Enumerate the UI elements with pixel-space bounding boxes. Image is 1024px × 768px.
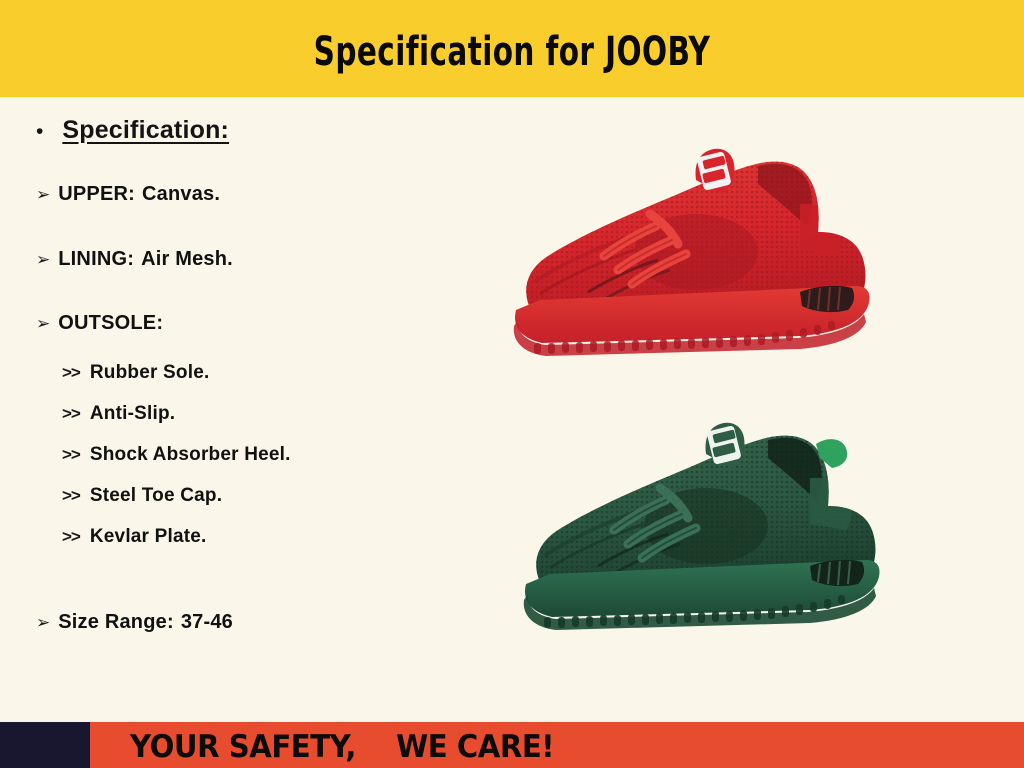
- outsole-item: >> Shock Absorber Heel.: [62, 444, 291, 466]
- outsole-item: >> Steel Toe Cap.: [62, 485, 222, 507]
- shock-absorber-insert: [810, 560, 864, 586]
- spec-row-upper: ➢ UPPER: Canvas.: [36, 183, 220, 206]
- shock-absorber-insert: [800, 286, 854, 312]
- spec-label-lining: LINING:: [58, 248, 134, 271]
- specification-heading-label: Specification:: [62, 116, 229, 145]
- footer-slogan-part1: YOUR SAFETY,: [130, 729, 356, 765]
- arrow-bullet-icon: ➢: [36, 251, 50, 268]
- specification-heading: • Specification:: [36, 116, 229, 145]
- outsole-item-label: Steel Toe Cap.: [90, 485, 222, 507]
- spec-label-outsole: OUTSOLE:: [58, 312, 163, 335]
- footer-slogan-part2: WE CARE!: [396, 729, 554, 765]
- double-chevron-icon: >>: [62, 445, 80, 465]
- footer-slogan: YOUR SAFETY, WE CARE!: [130, 729, 554, 765]
- outsole-item-label: Rubber Sole.: [90, 362, 210, 384]
- spec-value-upper: Canvas.: [142, 183, 220, 206]
- footer-navy-block: [0, 722, 90, 768]
- product-image-red-sneaker: [500, 140, 886, 380]
- double-chevron-icon: >>: [62, 527, 80, 547]
- specification-panel: • Specification: ➢ UPPER: Canvas. ➢ LINI…: [0, 97, 520, 722]
- slide-canvas: Specification for JOOBY • Specification:…: [0, 0, 1024, 768]
- spec-label-upper: UPPER:: [58, 183, 135, 206]
- outsole-item-label: Kevlar Plate.: [90, 526, 207, 548]
- arrow-bullet-icon: ➢: [36, 315, 50, 332]
- spec-row-size-range: ➢ Size Range: 37-46: [36, 611, 233, 634]
- outsole-item: >> Rubber Sole.: [62, 362, 209, 384]
- double-chevron-icon: >>: [62, 486, 80, 506]
- outsole-item-label: Shock Absorber Heel.: [90, 444, 291, 466]
- product-image-green-sneaker: [510, 410, 896, 658]
- outsole-item: >> Anti-Slip.: [62, 403, 175, 425]
- spec-value-lining: Air Mesh.: [141, 248, 233, 271]
- double-chevron-icon: >>: [62, 363, 80, 383]
- dot-bullet-icon: •: [36, 121, 43, 142]
- arrow-bullet-icon: ➢: [36, 186, 50, 203]
- spec-row-outsole: ➢ OUTSOLE:: [36, 312, 163, 335]
- page-title: Specification for JOOBY: [92, 29, 932, 75]
- spec-label-size-range: Size Range:: [58, 611, 174, 634]
- double-chevron-icon: >>: [62, 404, 80, 424]
- outsole-item: >> Kevlar Plate.: [62, 526, 207, 548]
- spec-value-size-range: 37-46: [181, 611, 233, 634]
- outsole-item-label: Anti-Slip.: [90, 403, 175, 425]
- spec-row-lining: ➢ LINING: Air Mesh.: [36, 248, 233, 271]
- arrow-bullet-icon: ➢: [36, 614, 50, 631]
